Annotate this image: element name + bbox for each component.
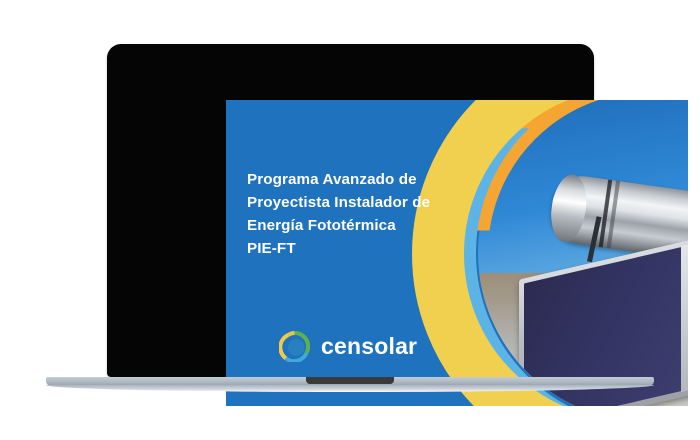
laptop-screen: Programa Avanzado de Proyectista Instala… xyxy=(226,100,688,406)
censolar-wordmark: censolar xyxy=(321,335,417,358)
screenshot-canvas: Programa Avanzado de Proyectista Instala… xyxy=(0,0,700,440)
slide-title-line-1: Programa Avanzado de xyxy=(247,168,477,191)
slide-title: Programa Avanzado de Proyectista Instala… xyxy=(247,168,477,260)
presentation-slide: Programa Avanzado de Proyectista Instala… xyxy=(226,100,688,406)
slide-title-line-4: PIE-FT xyxy=(247,237,477,260)
slide-title-line-2: Proyectista Instalador de xyxy=(247,191,477,214)
laptop-mockup: Programa Avanzado de Proyectista Instala… xyxy=(0,0,700,440)
censolar-logo: censolar xyxy=(279,331,417,362)
laptop-base-notch xyxy=(306,377,394,384)
censolar-ring-logo-icon xyxy=(279,331,310,362)
laptop-lid-bezel: Programa Avanzado de Proyectista Instala… xyxy=(107,44,594,377)
slide-title-line-3: Energía Fototérmica xyxy=(247,214,477,237)
